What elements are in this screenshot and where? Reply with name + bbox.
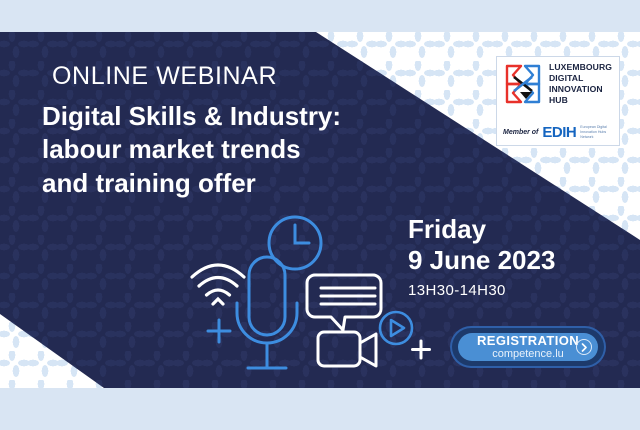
ldih-logo-card: LUXEMBOURG DIGITAL INNOVATION HUB Member… (496, 56, 620, 146)
logo-word-1: LUXEMBOURG (549, 62, 612, 73)
event-day: Friday (408, 214, 555, 245)
logo-bottom-row: Member of EDIH European Digital Innovati… (503, 125, 613, 140)
registration-button[interactable]: REGISTRATION competence.lu (452, 328, 604, 366)
page-title: Digital Skills & Industry: labour market… (42, 100, 372, 200)
event-time: 13H30-14H30 (408, 282, 555, 299)
registration-label: REGISTRATION (477, 334, 579, 348)
webinar-poster: ONLINE WEBINAR Digital Skills & Industry… (0, 32, 640, 388)
headline-line-2: labour market trends (42, 133, 372, 166)
registration-url: competence.lu (492, 348, 564, 361)
logo-word-3: INNOVATION (549, 84, 612, 95)
event-date-block: Friday 9 June 2023 13H30-14H30 (408, 214, 555, 299)
edih-subtitle: European Digital Innovation Hubs Network (580, 125, 613, 139)
headline-line-1: Digital Skills & Industry: (42, 100, 372, 133)
ldih-logo-mark (503, 62, 543, 106)
logo-top-row: LUXEMBOURG DIGITAL INNOVATION HUB (503, 62, 613, 123)
logo-word-2: DIGITAL (549, 73, 612, 84)
chevron-right-icon (576, 339, 592, 355)
headline-line-3: and training offer (42, 167, 372, 200)
event-date: 9 June 2023 (408, 245, 555, 276)
logo-wordmark: LUXEMBOURG DIGITAL INNOVATION HUB (549, 62, 612, 106)
edih-wordmark: EDIH (542, 125, 576, 140)
registration-button-inner[interactable]: REGISTRATION competence.lu (458, 333, 598, 361)
kicker-text: ONLINE WEBINAR (52, 62, 277, 91)
member-of-label: Member of (503, 129, 538, 136)
logo-word-4: HUB (549, 95, 612, 106)
